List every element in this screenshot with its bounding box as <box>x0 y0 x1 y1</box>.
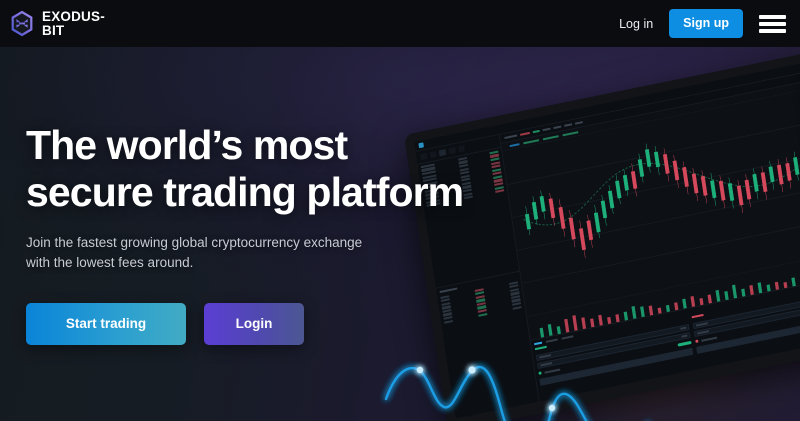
hexagon-logo-icon <box>10 10 34 37</box>
login-link[interactable]: Log in <box>617 14 655 34</box>
hamburger-menu-icon[interactable] <box>759 13 786 35</box>
hamburger-bar <box>759 15 786 19</box>
start-trading-button[interactable]: Start trading <box>26 303 186 345</box>
brand-logo[interactable]: EXODUS- BIT <box>10 10 105 37</box>
signup-button[interactable]: Sign up <box>669 9 743 38</box>
hamburger-bar <box>759 29 786 33</box>
landing-page: EXODUS- BIT Log in Sign up <box>0 0 800 421</box>
hero-subheadline: Join the fastest growing global cryptocu… <box>26 233 526 273</box>
brand-name: EXODUS- BIT <box>42 10 105 37</box>
site-header: EXODUS- BIT Log in Sign up <box>0 0 800 47</box>
hamburger-bar <box>759 22 786 26</box>
header-nav: Log in Sign up <box>617 9 786 38</box>
login-button[interactable]: Login <box>204 303 304 345</box>
hero-headline: The world’s most secure trading platform <box>26 122 526 216</box>
hero-section: The world’s most secure trading platform… <box>0 47 800 421</box>
hero-cta-row: Start trading Login <box>26 303 526 345</box>
hero-content: The world’s most secure trading platform… <box>26 122 526 345</box>
